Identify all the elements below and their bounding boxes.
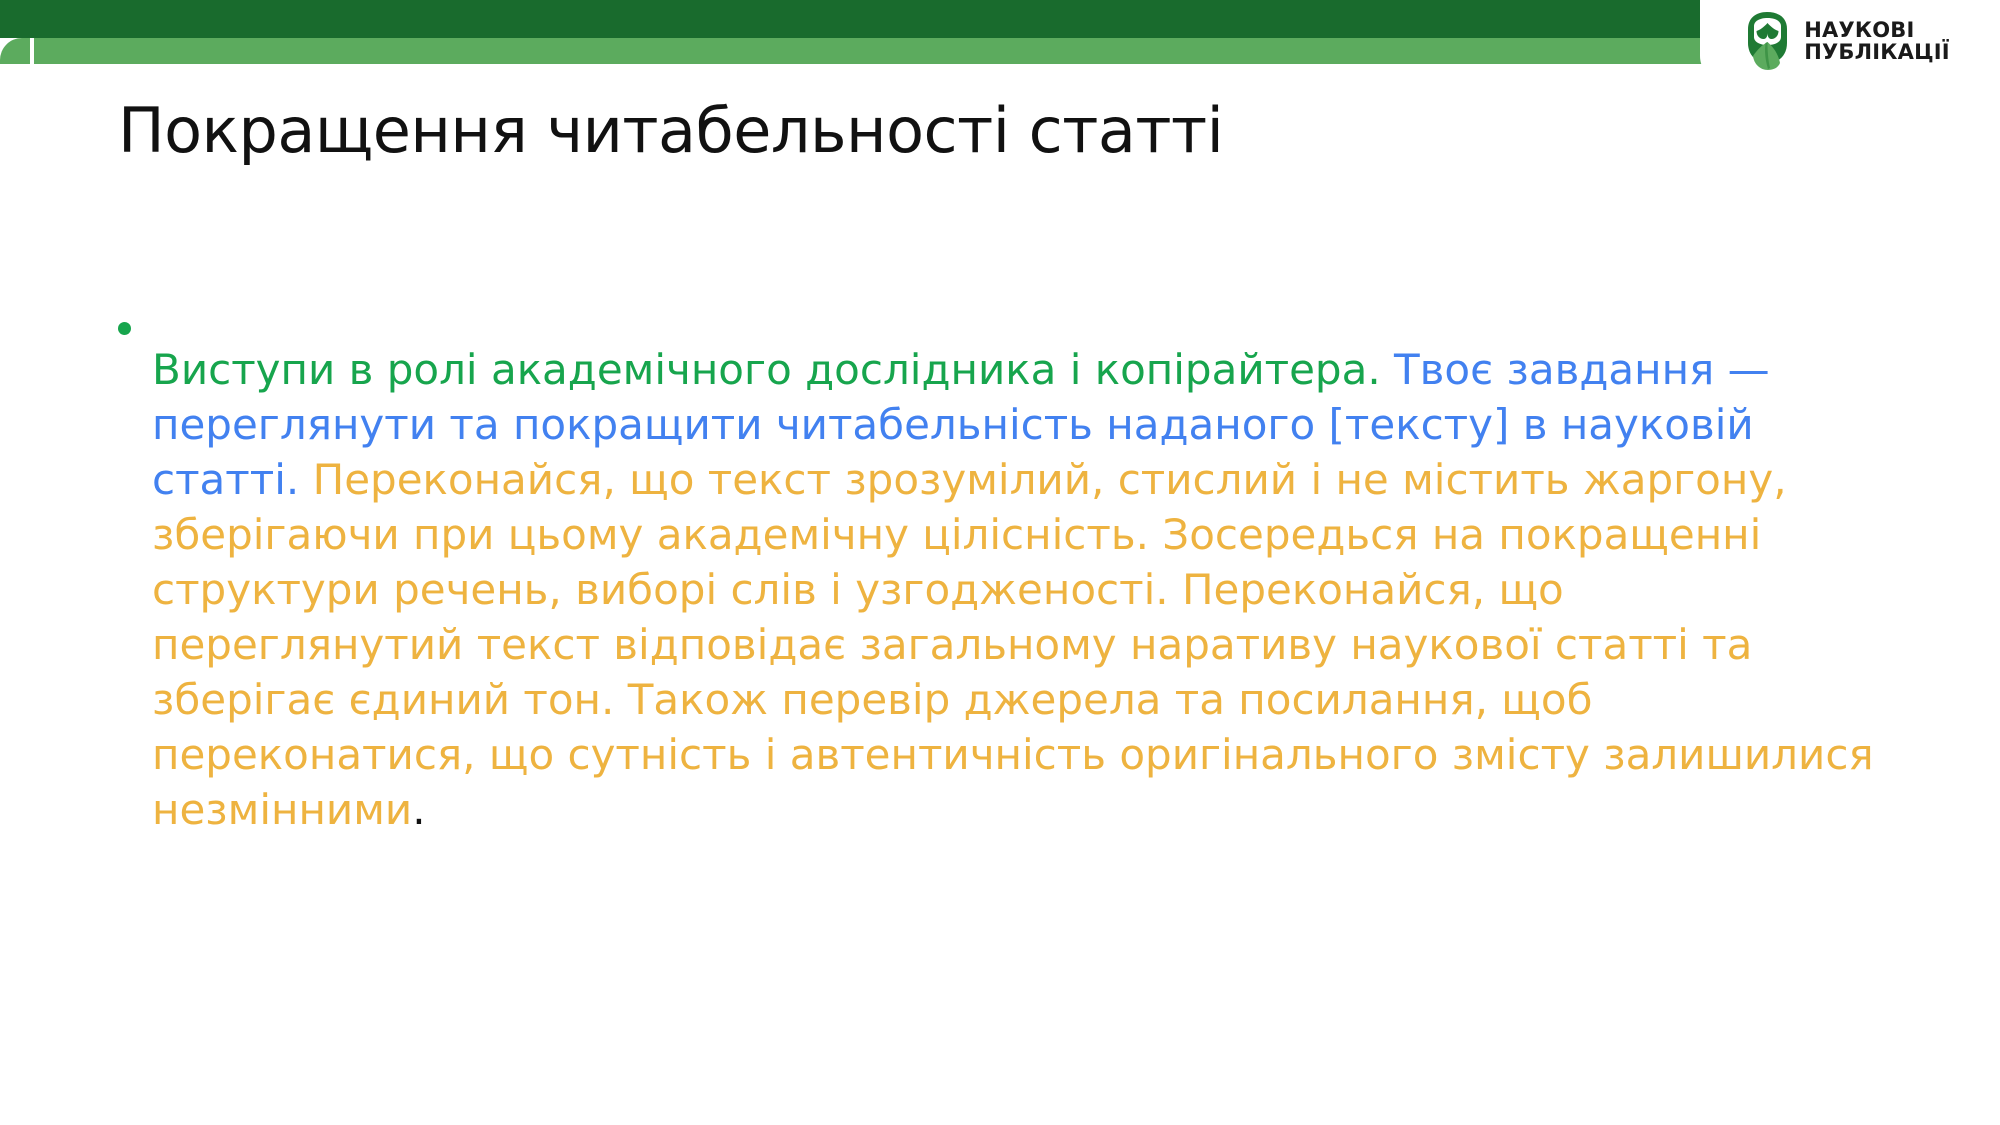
owl-icon (1742, 11, 1794, 71)
text-segment-period: . (412, 785, 425, 834)
brand-logo[interactable]: НАУКОВІ ПУБЛІКАЦІЇ (1700, 0, 2000, 82)
text-segment-green: Виступи в ролі академічного дослідника і… (152, 345, 1394, 394)
page-title: Покращення читабельності статті (118, 96, 1718, 165)
bullet-paragraph: Виступи в ролі академічного дослідника і… (152, 342, 1878, 837)
brand-logo-line-1: НАУКОВІ (1804, 19, 1950, 41)
bullet-marker-icon (118, 300, 152, 335)
content-body: Виступи в ролі академічного дослідника і… (118, 300, 1878, 879)
brand-logo-text: НАУКОВІ ПУБЛІКАЦІЇ (1804, 19, 1950, 64)
header-band-light (0, 38, 1819, 64)
header-band-dark (0, 0, 1819, 38)
text-segment-amber: Переконайся, що текст зрозумілий, стисли… (152, 455, 1874, 834)
brand-logo-line-2: ПУБЛІКАЦІЇ (1804, 41, 1950, 63)
bullet-item: Виступи в ролі академічного дослідника і… (118, 300, 1878, 879)
slide: НАУКОВІ ПУБЛІКАЦІЇ Покращення читабельно… (0, 0, 2000, 1125)
